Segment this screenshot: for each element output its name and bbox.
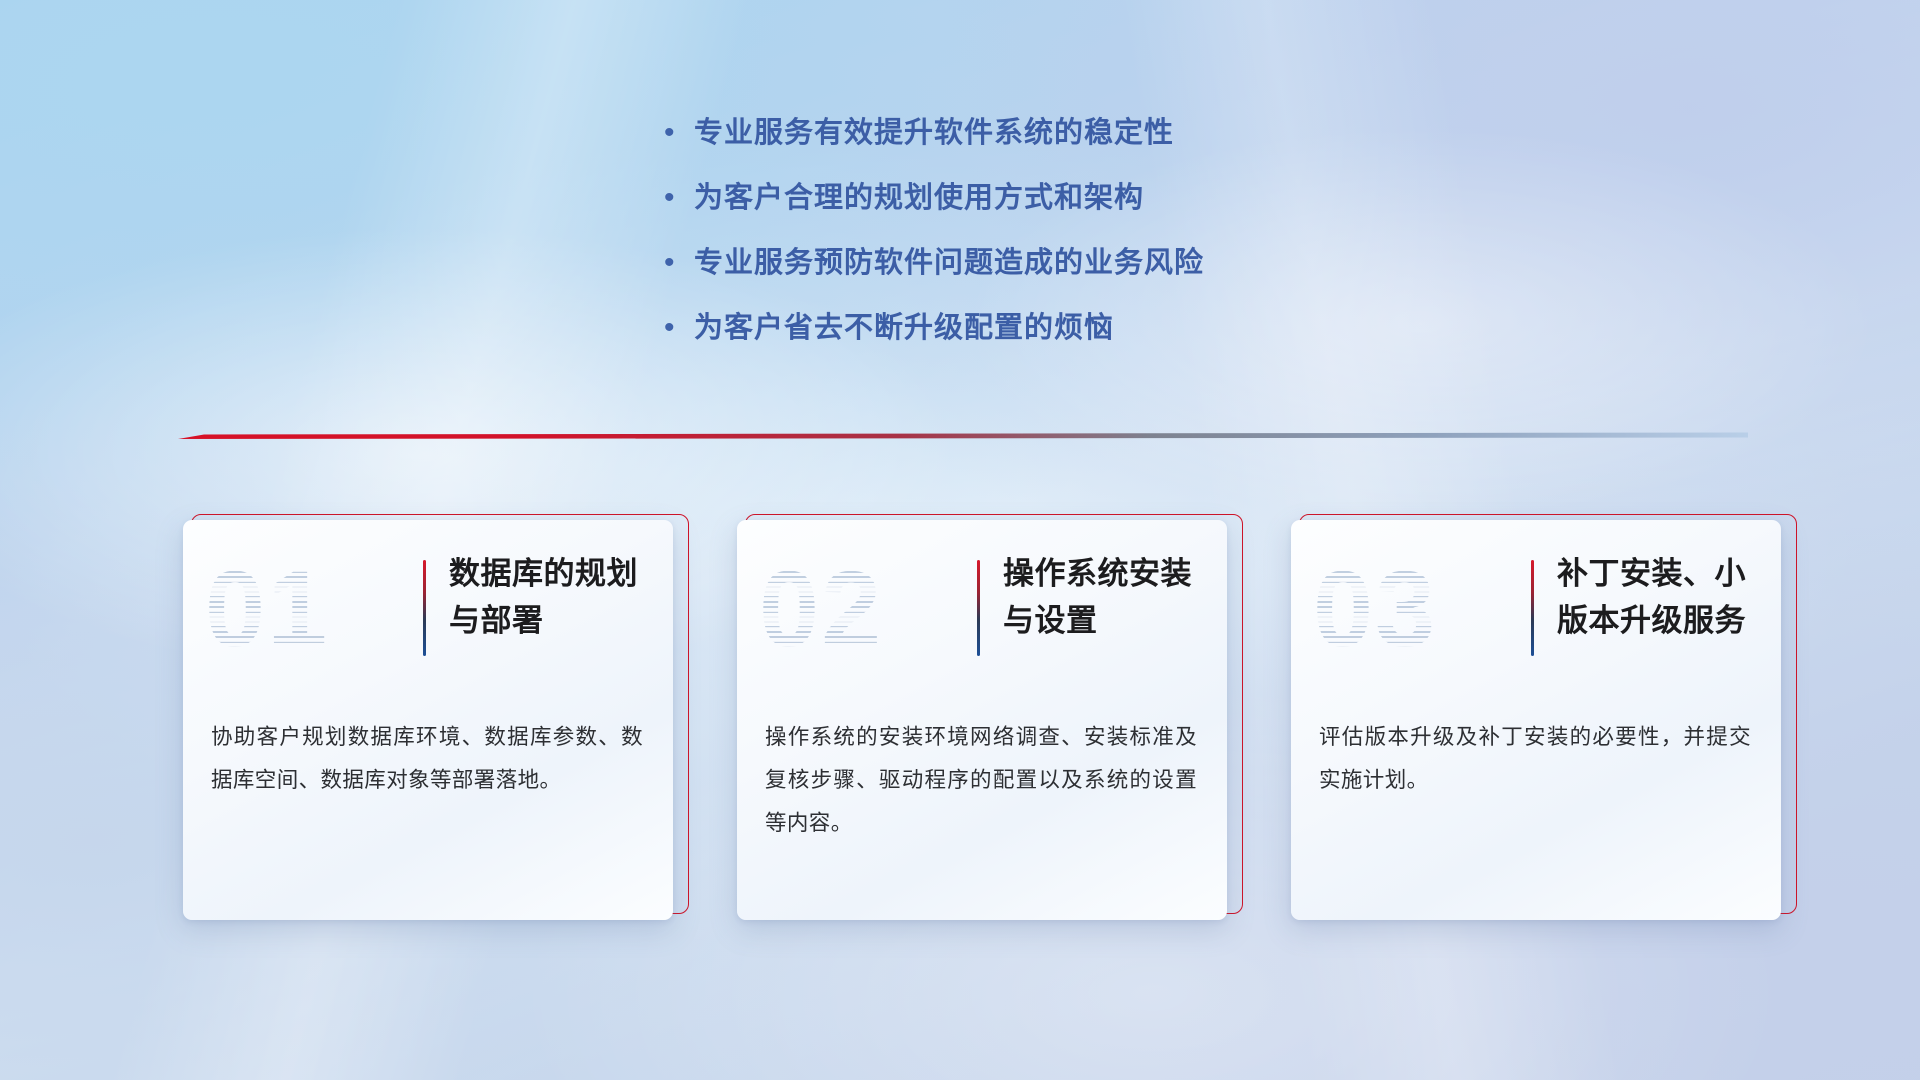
card-description: 协助客户规划数据库环境、数据库参数、数据库空间、数据库对象等部署落地。 — [211, 716, 643, 802]
bullet-dot-icon: • — [660, 240, 694, 286]
list-item: • 为客户合理的规划使用方式和架构 — [660, 175, 1420, 240]
service-card-02[interactable]: 02 操作系统安装与设置 操作系统的安装环境网络调查、安装标准及复核步骤、驱动程… — [737, 520, 1235, 920]
bullet-dot-icon: • — [660, 110, 694, 156]
slide-canvas: • 专业服务有效提升软件系统的稳定性 • 为客户合理的规划使用方式和架构 • 专… — [0, 0, 1920, 1080]
card-title: 补丁安装、小版本升级服务 — [1557, 550, 1763, 644]
bullet-dot-icon: • — [660, 305, 694, 351]
service-card-01[interactable]: 01 数据库的规划与部署 协助客户规划数据库环境、数据库参数、数据库空间、数据库… — [183, 520, 681, 920]
card-title: 操作系统安装与设置 — [1003, 550, 1209, 644]
card-accent-bar — [977, 560, 980, 656]
service-cards-row: 01 数据库的规划与部署 协助客户规划数据库环境、数据库参数、数据库空间、数据库… — [183, 520, 1803, 930]
card-title: 数据库的规划与部署 — [449, 550, 655, 644]
card-number-watermark: 03 — [1313, 546, 1503, 672]
list-item: • 为客户省去不断升级配置的烦恼 — [660, 305, 1420, 370]
card-body: 03 补丁安装、小版本升级服务 评估版本升级及补丁安装的必要性，并提交实施计划。 — [1291, 520, 1781, 920]
card-number-watermark: 01 — [205, 546, 395, 672]
service-card-03[interactable]: 03 补丁安装、小版本升级服务 评估版本升级及补丁安装的必要性，并提交实施计划。 — [1291, 520, 1789, 920]
bullet-text: 专业服务有效提升软件系统的稳定性 — [694, 110, 1174, 156]
card-body: 01 数据库的规划与部署 协助客户规划数据库环境、数据库参数、数据库空间、数据库… — [183, 520, 673, 920]
card-accent-bar — [1531, 560, 1534, 656]
card-description: 评估版本升级及补丁安装的必要性，并提交实施计划。 — [1319, 716, 1751, 802]
list-item: • 专业服务预防软件问题造成的业务风险 — [660, 240, 1420, 305]
benefits-bullet-list: • 专业服务有效提升软件系统的稳定性 • 为客户合理的规划使用方式和架构 • 专… — [660, 110, 1420, 370]
card-accent-bar — [423, 560, 426, 656]
bullet-text: 为客户合理的规划使用方式和架构 — [694, 175, 1144, 221]
bullet-dot-icon: • — [660, 175, 694, 221]
list-item: • 专业服务有效提升软件系统的稳定性 — [660, 110, 1420, 175]
card-description: 操作系统的安装环境网络调查、安装标准及复核步骤、驱动程序的配置以及系统的设置等内… — [765, 716, 1197, 845]
bullet-text: 专业服务预防软件问题造成的业务风险 — [694, 240, 1204, 286]
card-body: 02 操作系统安装与设置 操作系统的安装环境网络调查、安装标准及复核步骤、驱动程… — [737, 520, 1227, 920]
section-divider — [178, 428, 1748, 442]
card-number-watermark: 02 — [759, 546, 949, 672]
bullet-text: 为客户省去不断升级配置的烦恼 — [694, 305, 1114, 351]
